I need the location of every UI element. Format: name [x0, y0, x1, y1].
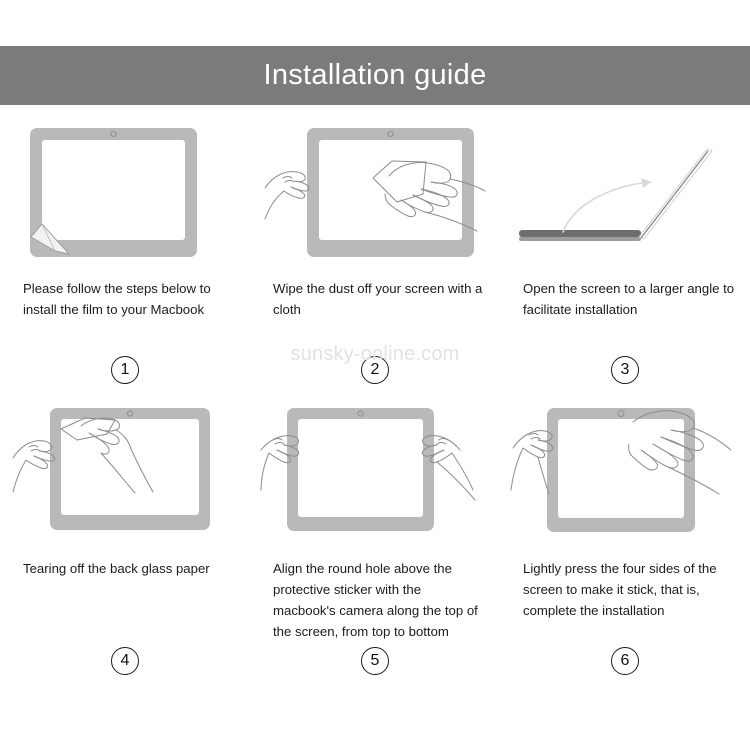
step-4-number: 4 [111, 647, 139, 675]
step-4-illustration [11, 400, 239, 550]
step-2-illustration [261, 120, 489, 270]
step-5-number: 5 [361, 647, 389, 675]
step-6-caption: Lightly press the four sides of the scre… [511, 558, 739, 621]
step-card-3: Open the screen to a larger angle to fac… [500, 120, 750, 400]
header-banner: Installation guide [0, 46, 750, 105]
step-card-4: Tearing off the back glass paper 4 [0, 400, 250, 700]
step-6-illustration [511, 400, 739, 550]
steps-grid: Please follow the steps below to install… [0, 120, 750, 735]
step-3-number: 3 [611, 356, 639, 384]
step-4-caption: Tearing off the back glass paper [11, 558, 239, 579]
step-1-illustration [11, 120, 239, 270]
step-5-caption: Align the round hole above the protectiv… [261, 558, 489, 642]
step-1-number: 1 [111, 356, 139, 384]
step-2-caption: Wipe the dust off your screen with a clo… [261, 278, 489, 320]
step-6-number: 6 [611, 647, 639, 675]
step-3-caption: Open the screen to a larger angle to fac… [511, 278, 739, 320]
step-card-6: Lightly press the four sides of the scre… [500, 400, 750, 700]
page-title: Installation guide [263, 61, 486, 90]
step-3-illustration [511, 120, 739, 270]
step-card-5: Align the round hole above the protectiv… [250, 400, 500, 700]
step-card-1: Please follow the steps below to install… [0, 120, 250, 400]
step-2-number: 2 [361, 356, 389, 384]
step-5-illustration [261, 400, 489, 550]
step-card-2: Wipe the dust off your screen with a clo… [250, 120, 500, 400]
step-1-caption: Please follow the steps below to install… [11, 278, 239, 320]
